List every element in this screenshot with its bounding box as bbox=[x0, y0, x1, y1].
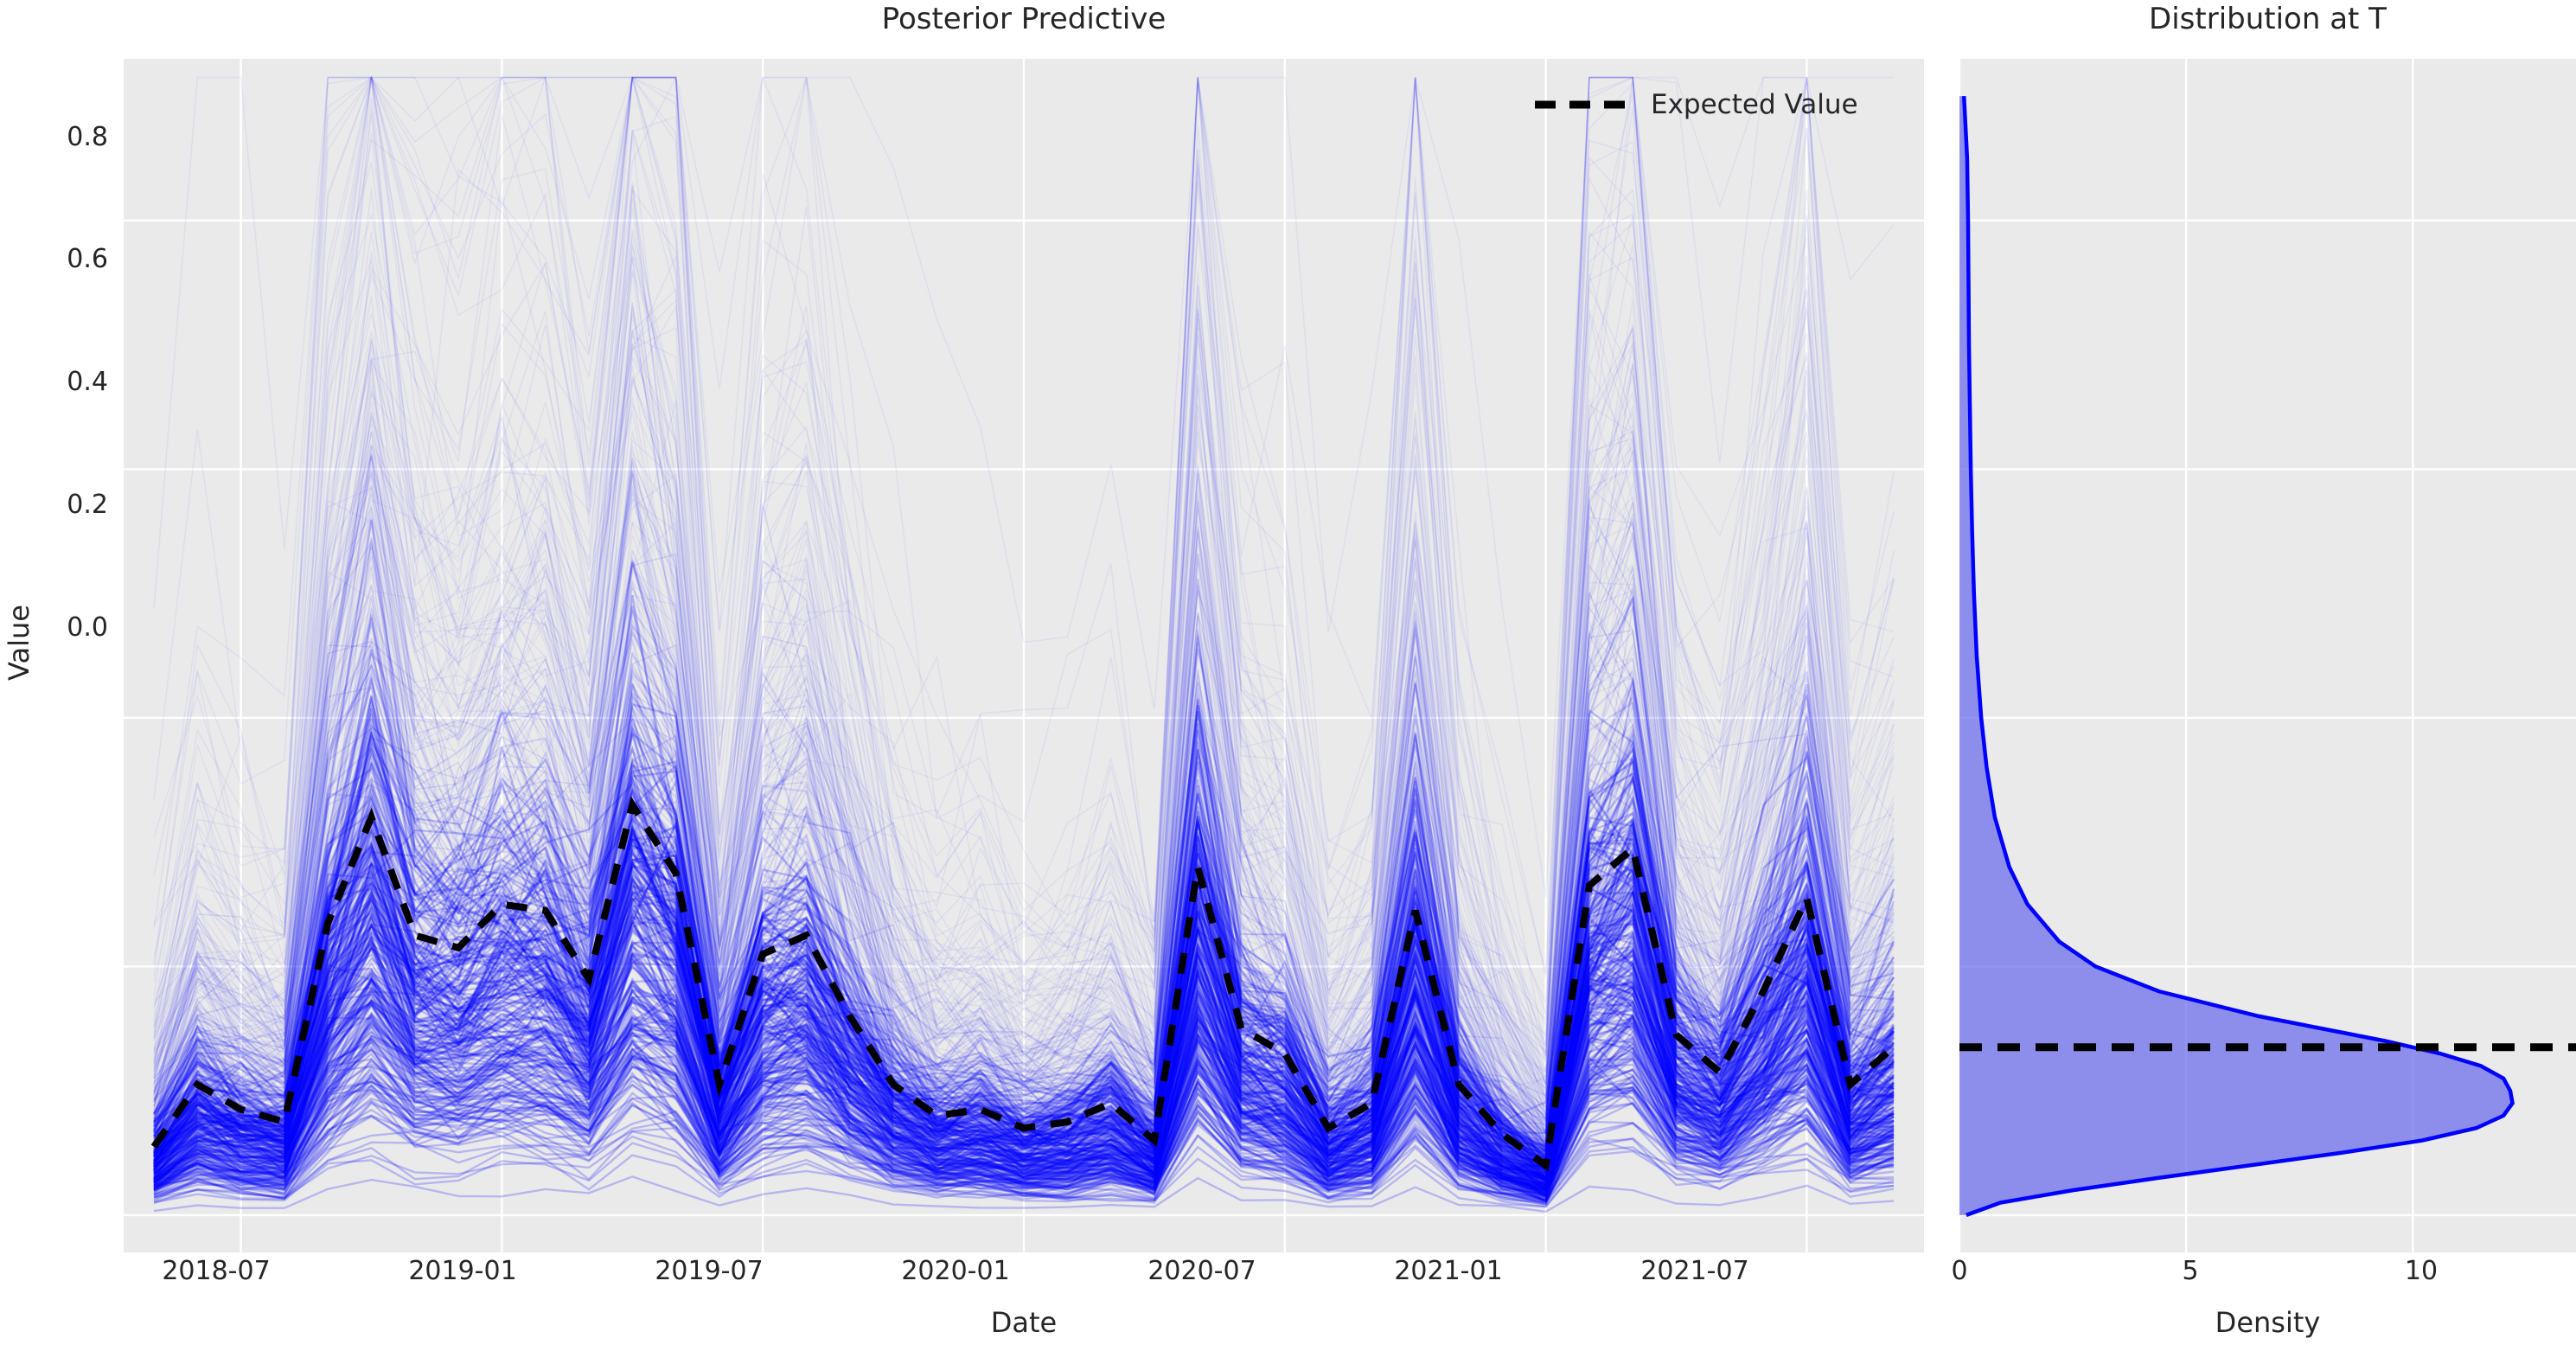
legend-dash-swatch bbox=[1533, 93, 1628, 116]
legend-label-expected-value: Expected Value bbox=[1651, 89, 1858, 120]
left-ytick-3: 0.2 bbox=[0, 490, 108, 520]
right-xtick-1: 5 bbox=[2147, 1256, 2234, 1286]
right-panel-title: Distribution at T bbox=[1959, 2, 2576, 36]
left-xtick-4: 2020-07 bbox=[1090, 1256, 1314, 1286]
left-xtick-1: 2019-01 bbox=[350, 1256, 575, 1286]
left-ytick-2: 0.4 bbox=[0, 367, 108, 397]
left-xtick-2: 2019-07 bbox=[597, 1256, 821, 1286]
left-panel-title: Posterior Predictive bbox=[124, 2, 1924, 36]
figure-root: Posterior Predictive Value 0.8 0.6 0.4 0… bbox=[0, 0, 2576, 1364]
left-xtick-6: 2021-07 bbox=[1582, 1256, 1807, 1286]
left-xtick-3: 2020-01 bbox=[843, 1256, 1068, 1286]
left-ytick-0: 0.8 bbox=[0, 122, 108, 152]
right-xtick-0: 0 bbox=[1916, 1256, 2003, 1286]
posterior-predictive-plot[interactable] bbox=[124, 59, 1924, 1252]
left-xtick-5: 2021-01 bbox=[1336, 1256, 1561, 1286]
left-xtick-0: 2018-07 bbox=[104, 1256, 329, 1286]
left-ytick-1: 0.6 bbox=[0, 244, 108, 274]
distribution-at-t-plot[interactable] bbox=[1959, 59, 2576, 1252]
left-ytick-4: 0.0 bbox=[0, 612, 108, 643]
right-xtick-2: 10 bbox=[2378, 1256, 2464, 1286]
left-panel-xlabel: Date bbox=[124, 1306, 1924, 1339]
left-panel-ylabel: Value bbox=[3, 591, 35, 695]
right-panel-xlabel: Density bbox=[1959, 1306, 2576, 1339]
